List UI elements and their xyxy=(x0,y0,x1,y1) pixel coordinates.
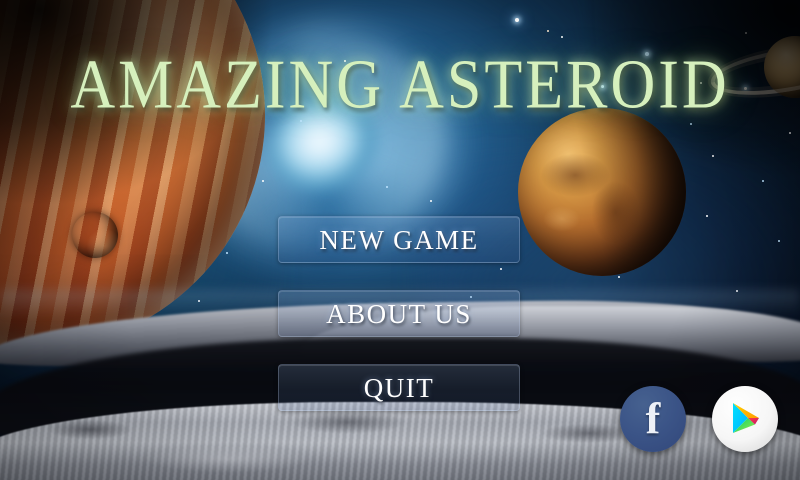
main-menu: NEW GAME ABOUT US QUIT xyxy=(278,216,520,411)
social-buttons: f xyxy=(620,386,778,452)
facebook-icon: f xyxy=(620,386,686,452)
google-play-icon xyxy=(732,402,760,436)
star xyxy=(430,200,432,202)
google-play-button[interactable] xyxy=(712,386,778,452)
game-title: AMAZING ASTEROID xyxy=(0,46,800,126)
star xyxy=(762,180,764,182)
mars-planet xyxy=(518,108,686,276)
facebook-button[interactable]: f xyxy=(620,386,686,452)
star xyxy=(789,132,791,134)
star xyxy=(262,180,264,182)
star xyxy=(561,36,563,38)
jupiter-moon xyxy=(72,212,118,258)
star xyxy=(515,18,519,22)
star xyxy=(618,276,620,278)
star xyxy=(547,30,549,32)
game-main-menu-screen: AMAZING ASTEROID NEW GAME ABOUT US QUIT … xyxy=(0,0,800,480)
star xyxy=(226,252,228,254)
about-us-button[interactable]: ABOUT US xyxy=(278,290,520,337)
new-game-button[interactable]: NEW GAME xyxy=(278,216,520,263)
star xyxy=(386,186,388,188)
star xyxy=(706,215,708,217)
star xyxy=(778,240,780,242)
quit-button[interactable]: QUIT xyxy=(278,364,520,411)
star xyxy=(712,155,714,157)
mars-terminator-shadow xyxy=(518,108,686,276)
